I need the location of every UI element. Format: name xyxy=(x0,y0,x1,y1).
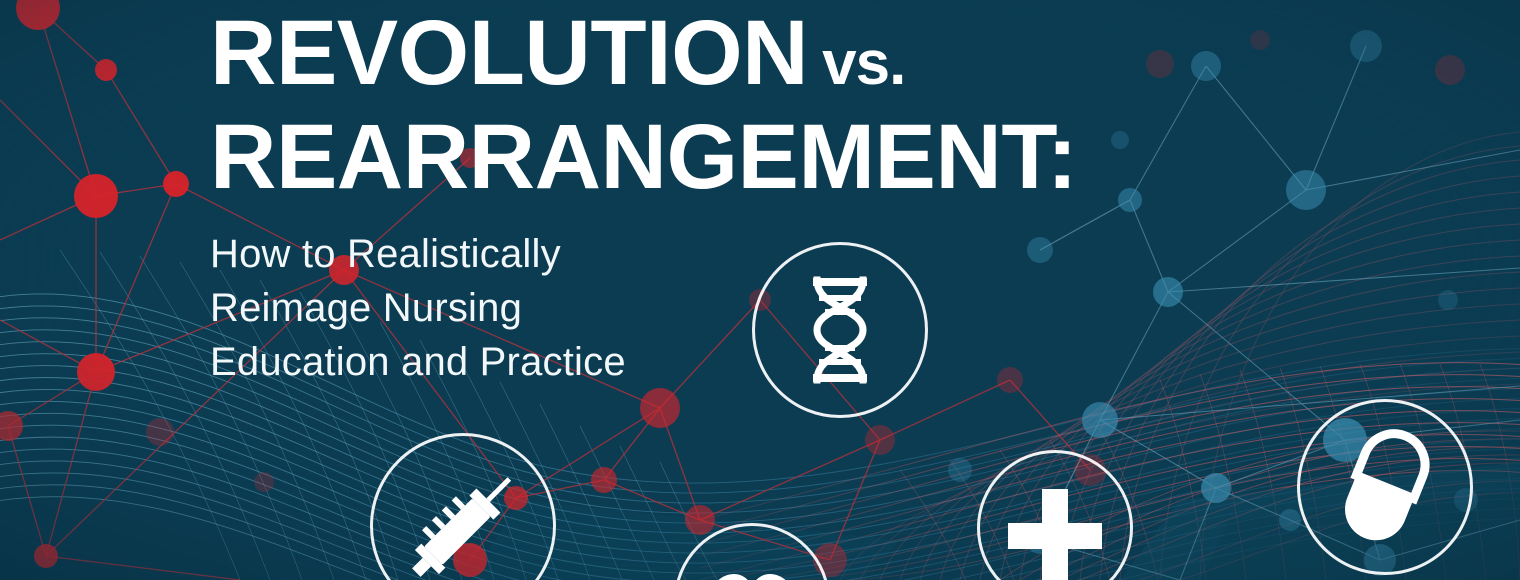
heart-icon xyxy=(706,574,798,580)
infographic-banner: REVOLUTIONvs. REARRANGEMENT: How to Real… xyxy=(0,0,1520,580)
background-artwork xyxy=(0,0,1520,580)
dna-helix-badge xyxy=(752,242,928,418)
pill-capsule-icon xyxy=(1330,419,1439,555)
dna-helix-icon xyxy=(797,274,883,386)
medical-cross-icon xyxy=(1008,489,1102,580)
syringe-icon xyxy=(398,461,528,580)
pill-capsule-badge xyxy=(1297,399,1473,575)
